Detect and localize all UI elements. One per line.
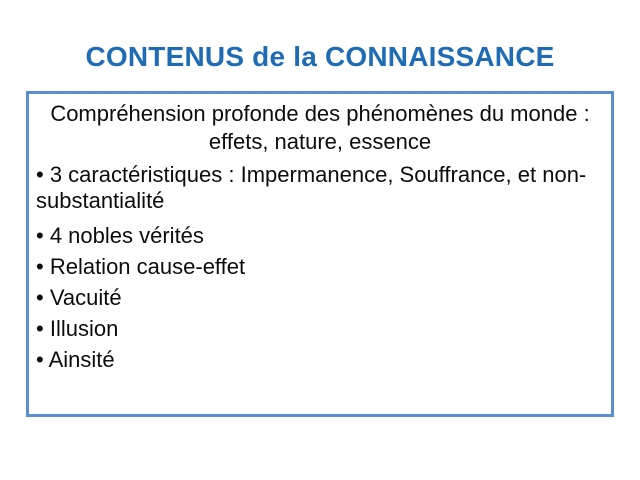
- list-item-label: 4 nobles vérités: [50, 223, 204, 248]
- bullet-list: • 3 caractéristiques : Impermanence, Sou…: [29, 162, 611, 373]
- bullet-dot-icon: •: [36, 162, 44, 187]
- content-body: Compréhension profonde des phénomènes du…: [29, 94, 611, 378]
- intro-paragraph: Compréhension profonde des phénomènes du…: [29, 100, 611, 156]
- list-item-label: Vacuité: [50, 285, 122, 310]
- list-item: • Ainsité: [29, 347, 611, 373]
- bullet-dot-icon: •: [36, 285, 44, 310]
- list-item: • 3 caractéristiques : Impermanence, Sou…: [29, 162, 611, 214]
- list-item-label: Illusion: [50, 316, 118, 341]
- bullet-dot-icon: •: [36, 347, 44, 372]
- bullet-dot-icon: •: [36, 316, 44, 341]
- list-item-label: Relation cause-effet: [50, 254, 245, 279]
- page-title: CONTENUS de la CONNAISSANCE: [0, 41, 640, 73]
- list-item-label: Ainsité: [49, 347, 115, 372]
- list-item: • Illusion: [29, 316, 611, 342]
- bullet-dot-icon: •: [36, 223, 44, 248]
- list-item-label: 3 caractéristiques : Impermanence, Souff…: [36, 162, 586, 213]
- list-item: • Relation cause-effet: [29, 254, 611, 280]
- list-item: • 4 nobles vérités: [29, 223, 611, 249]
- list-item: • Vacuité: [29, 285, 611, 311]
- content-box: Compréhension profonde des phénomènes du…: [26, 91, 614, 417]
- bullet-dot-icon: •: [36, 254, 44, 279]
- slide: CONTENUS de la CONNAISSANCE Compréhensio…: [0, 0, 640, 480]
